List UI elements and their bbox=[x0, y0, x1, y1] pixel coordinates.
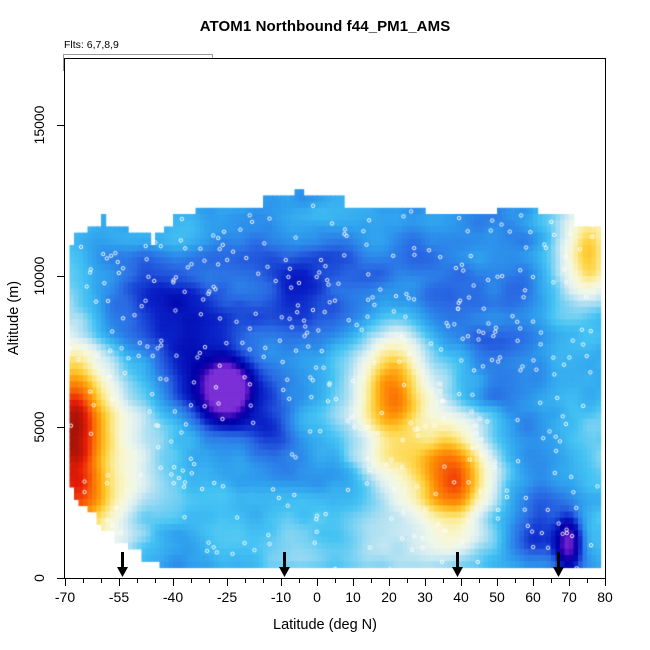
x-axis-tick-label: 20 bbox=[381, 589, 397, 605]
x-axis-tick-label: -25 bbox=[217, 589, 237, 605]
x-axis-minor-tick bbox=[299, 578, 300, 583]
x-axis-tick bbox=[569, 578, 570, 586]
plot-figure: ATOM1 Northbound f44_PM1_AMS Flts: 6,7,8… bbox=[0, 0, 650, 650]
x-axis-tick bbox=[173, 578, 174, 586]
x-axis-minor-tick bbox=[209, 578, 210, 583]
x-axis-tick-label: -55 bbox=[109, 589, 129, 605]
x-axis-minor-tick bbox=[155, 578, 156, 583]
chart-title: ATOM1 Northbound f44_PM1_AMS bbox=[0, 18, 650, 35]
x-axis-tick-label: 30 bbox=[417, 589, 433, 605]
x-axis-tick bbox=[281, 578, 282, 586]
x-axis-tick bbox=[533, 578, 534, 586]
x-axis-minor-tick bbox=[515, 578, 516, 583]
x-axis-tick bbox=[461, 578, 462, 586]
x-axis-minor-tick bbox=[407, 578, 408, 583]
y-axis-tick-label: 10000 bbox=[31, 257, 47, 296]
x-axis-tick bbox=[119, 578, 120, 586]
x-axis-minor-tick bbox=[191, 578, 192, 583]
y-axis-tick-label: 15000 bbox=[31, 106, 47, 145]
x-axis-minor-tick bbox=[479, 578, 480, 583]
x-axis-tick-label: -70 bbox=[55, 589, 75, 605]
x-axis-minor-tick bbox=[371, 578, 372, 583]
x-axis-title: Latitude (deg N) bbox=[0, 617, 650, 633]
x-axis-minor-tick bbox=[335, 578, 336, 583]
x-axis-tick bbox=[353, 578, 354, 586]
x-axis-tick bbox=[497, 578, 498, 586]
y-axis-tick bbox=[57, 578, 65, 579]
latitude-arrow-marker bbox=[552, 552, 565, 578]
x-axis-tick bbox=[425, 578, 426, 586]
x-axis-tick bbox=[227, 578, 228, 586]
x-axis-tick bbox=[389, 578, 390, 586]
y-axis-title: Altitude (m) bbox=[6, 281, 22, 355]
x-axis-tick bbox=[65, 578, 66, 586]
heatmap-field bbox=[65, 59, 605, 578]
x-axis-minor-tick bbox=[263, 578, 264, 583]
x-axis-tick-label: 60 bbox=[525, 589, 541, 605]
x-axis-tick-label: 40 bbox=[453, 589, 469, 605]
y-axis-tick-label: 0 bbox=[31, 574, 47, 582]
flights-annotation: Flts: 6,7,8,9 bbox=[64, 39, 119, 51]
latitude-arrow-marker bbox=[451, 552, 464, 578]
x-axis-tick-label: 0 bbox=[313, 589, 321, 605]
x-axis-tick-label: 10 bbox=[345, 589, 361, 605]
x-axis-minor-tick bbox=[443, 578, 444, 583]
x-axis-tick bbox=[317, 578, 318, 586]
latitude-arrow-marker bbox=[278, 552, 291, 578]
x-axis-minor-tick bbox=[551, 578, 552, 583]
x-axis-tick-label: 70 bbox=[561, 589, 577, 605]
y-axis-tick bbox=[57, 427, 65, 428]
x-axis-minor-tick bbox=[83, 578, 84, 583]
y-axis-tick-label: 5000 bbox=[31, 412, 47, 443]
plot-area bbox=[64, 58, 606, 579]
x-axis-tick bbox=[605, 578, 606, 586]
x-axis-minor-tick bbox=[245, 578, 246, 583]
x-axis-minor-tick bbox=[137, 578, 138, 583]
y-axis-tick bbox=[57, 276, 65, 277]
x-axis-tick-label: 80 bbox=[597, 589, 613, 605]
x-axis-minor-tick bbox=[587, 578, 588, 583]
y-axis-tick bbox=[57, 125, 65, 126]
x-axis-minor-tick bbox=[101, 578, 102, 583]
x-axis-tick-label: -40 bbox=[163, 589, 183, 605]
x-axis-tick-label: 50 bbox=[489, 589, 505, 605]
latitude-arrow-marker bbox=[116, 552, 129, 578]
x-axis-tick-label: -10 bbox=[271, 589, 291, 605]
